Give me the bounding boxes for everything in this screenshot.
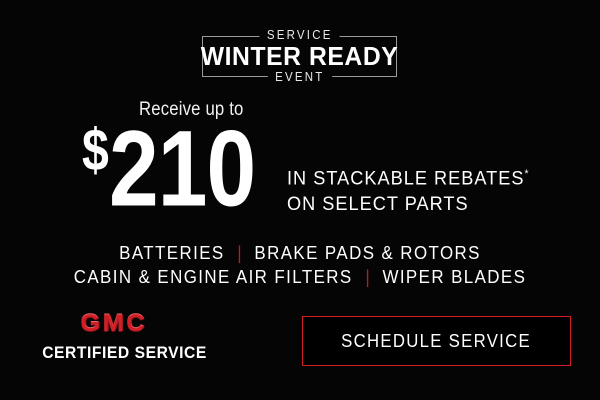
part-item-wiper-blades: WIPER BLADES — [382, 267, 526, 287]
offer-rebate-text: IN STACKABLE REBATES* ON SELECT PARTS — [287, 162, 528, 217]
currency-symbol: $ — [82, 120, 109, 179]
offer-amount: 210 — [109, 118, 255, 221]
parts-separator: | — [231, 243, 249, 263]
event-badge-headline: WINTER READY — [207, 36, 392, 77]
offer-price: $ 210 — [82, 118, 266, 210]
parts-separator: | — [359, 267, 377, 287]
disclaimer-marker: * — [524, 168, 528, 180]
part-item-air-filters: CABIN & ENGINE AIR FILTERS — [74, 267, 353, 287]
parts-row-1: BATTERIES | BRAKE PADS & ROTORS — [18, 241, 582, 265]
parts-row-2: CABIN & ENGINE AIR FILTERS | WIPER BLADE… — [18, 265, 582, 289]
offer-rebate-line-2: ON SELECT PARTS — [287, 192, 528, 217]
schedule-service-button-label: SCHEDULE SERVICE — [342, 331, 532, 352]
gmc-logo: GMC — [80, 311, 147, 337]
schedule-service-button[interactable]: SCHEDULE SERVICE — [302, 316, 571, 366]
offer-rebate-line-1-text: IN STACKABLE REBATES — [287, 168, 524, 190]
gmc-brand-lockup: GMC CERTIFIED SERVICE — [36, 311, 191, 362]
event-badge: SERVICE WINTER READY EVENT — [202, 36, 397, 77]
part-item-brake-pads-rotors: BRAKE PADS & ROTORS — [254, 243, 480, 263]
part-item-batteries: BATTERIES — [119, 243, 224, 263]
offer-rebate-line-1: IN STACKABLE REBATES* — [287, 162, 528, 192]
certified-service-tagline: CERTIFIED SERVICE — [42, 343, 185, 362]
winter-ready-service-ad-banner: SERVICE WINTER READY EVENT Receive up to… — [0, 0, 600, 400]
eligible-parts-list: BATTERIES | BRAKE PADS & ROTORS CABIN & … — [0, 241, 600, 289]
